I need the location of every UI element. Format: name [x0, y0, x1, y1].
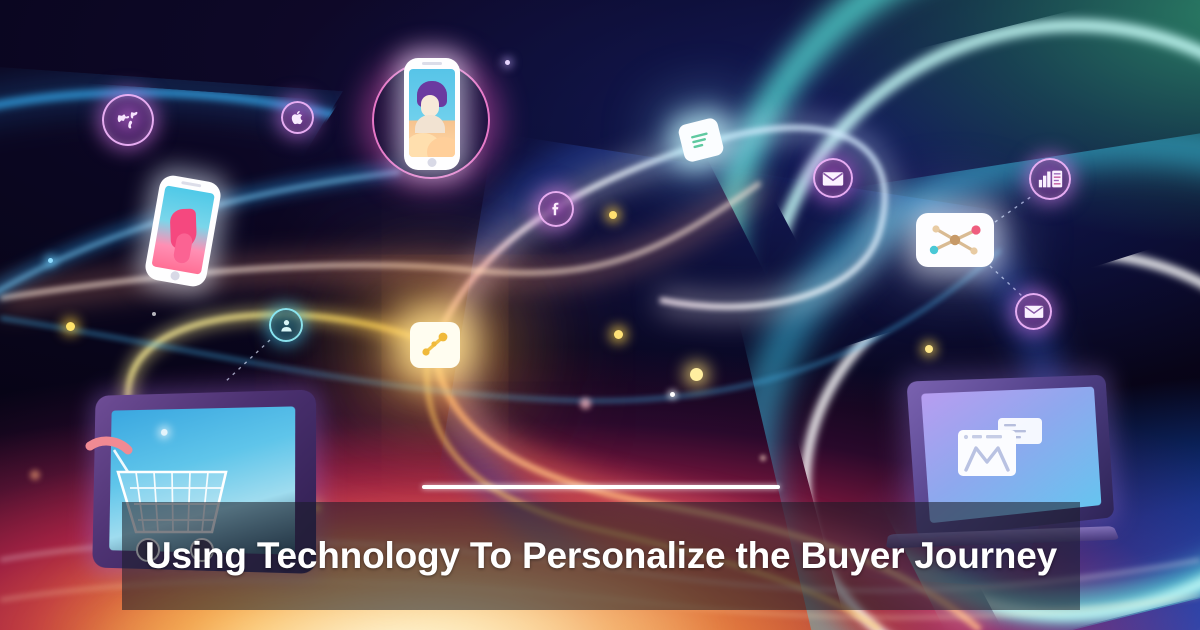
network-node-card[interactable]	[916, 213, 994, 267]
dotted-connector-right	[990, 196, 1032, 296]
facebook-icon-glyph	[547, 200, 565, 218]
envelope-icon-glyph	[822, 170, 844, 187]
title-divider	[422, 485, 780, 489]
user-profile-icon[interactable]	[269, 308, 303, 342]
phone-speaker	[181, 181, 201, 187]
particle-glow	[760, 455, 766, 461]
phone-home-button	[428, 158, 437, 167]
bar-chart-icon[interactable]	[1029, 158, 1071, 200]
network-node-card-glyph	[924, 220, 986, 260]
globe-icon[interactable]	[102, 94, 154, 146]
title-overlay: Using Technology To Personalize the Buye…	[122, 502, 1080, 610]
particle-glow	[505, 60, 510, 65]
share-node-icon[interactable]	[410, 322, 460, 368]
page-title: Using Technology To Personalize the Buye…	[145, 534, 1057, 578]
smartphone-profile[interactable]	[404, 58, 460, 170]
particle-glow	[30, 470, 40, 480]
envelope-icon-2[interactable]	[1015, 293, 1052, 330]
particle-glow	[609, 211, 617, 219]
phone-speaker	[422, 62, 442, 65]
particle-glow	[925, 345, 933, 353]
envelope-icon[interactable]	[813, 158, 853, 198]
phone-screen	[151, 185, 214, 274]
particle-glow	[614, 330, 623, 339]
user-profile-icon-glyph	[278, 317, 295, 334]
phone-screen	[409, 69, 455, 157]
particle-glow	[66, 322, 75, 331]
globe-icon-glyph	[113, 105, 143, 135]
particle-glow	[152, 312, 156, 316]
bar-chart-icon-glyph	[1038, 169, 1063, 189]
particle-glow	[690, 368, 703, 381]
particle-glow	[48, 258, 53, 263]
email-inbox-icon	[954, 414, 1074, 494]
envelope-icon-2-glyph	[1024, 304, 1044, 319]
facebook-icon[interactable]	[538, 191, 574, 227]
phone-home-button	[170, 271, 180, 281]
share-node-icon-glyph	[419, 330, 451, 360]
hero-banner: Using Technology To Personalize the Buye…	[0, 0, 1200, 630]
particle-glow	[670, 392, 675, 397]
chat-bubble-icon-glyph	[687, 127, 715, 152]
apple-icon-glyph	[289, 109, 306, 126]
particle-glow	[580, 398, 591, 409]
apple-icon[interactable]	[281, 101, 314, 134]
